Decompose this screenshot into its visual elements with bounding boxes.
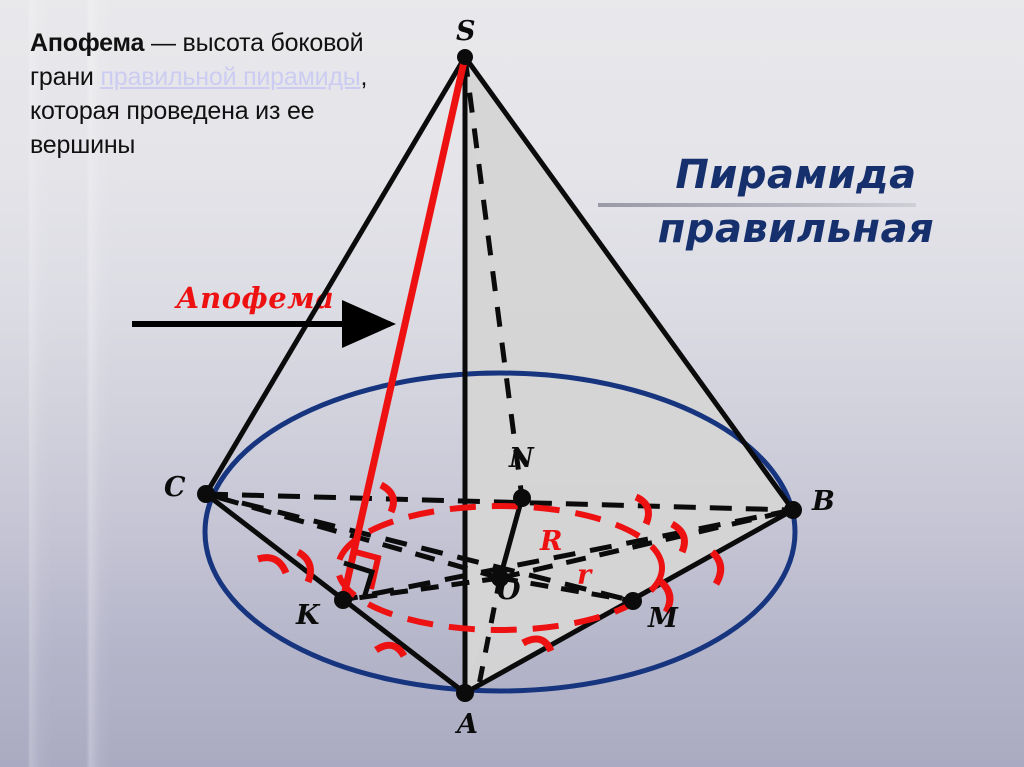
label-point-b: B <box>812 486 835 517</box>
vertex-dot-n <box>513 489 531 507</box>
tick-mark-ab-2 <box>376 645 404 656</box>
label-point-m: M <box>648 603 678 634</box>
vertex-dot-a <box>456 684 474 702</box>
pyramid-figure <box>0 0 1024 767</box>
label-point-c: C <box>164 472 186 503</box>
vertex-dot-s <box>457 49 473 65</box>
lateral-edge-sc <box>206 57 465 494</box>
slide-canvas: Апофема — высота боковой грани правильно… <box>0 0 1024 767</box>
vertex-dot-b <box>784 501 802 519</box>
label-point-s: S <box>456 16 476 47</box>
vertex-dot-m <box>624 592 642 610</box>
label-inradius-r: r <box>577 560 591 591</box>
label-point-k: K <box>296 600 319 631</box>
vertex-dot-k <box>334 591 352 609</box>
tick-mark-ca-1 <box>258 558 286 573</box>
label-point-n: N <box>509 443 534 474</box>
vertex-dot-c <box>197 485 215 503</box>
tick-mark-bm-1 <box>712 552 721 584</box>
label-circumradius-r: R <box>540 526 562 557</box>
apothem-sk <box>343 57 465 600</box>
label-point-a: A <box>457 709 478 740</box>
label-point-o: O <box>497 575 521 606</box>
